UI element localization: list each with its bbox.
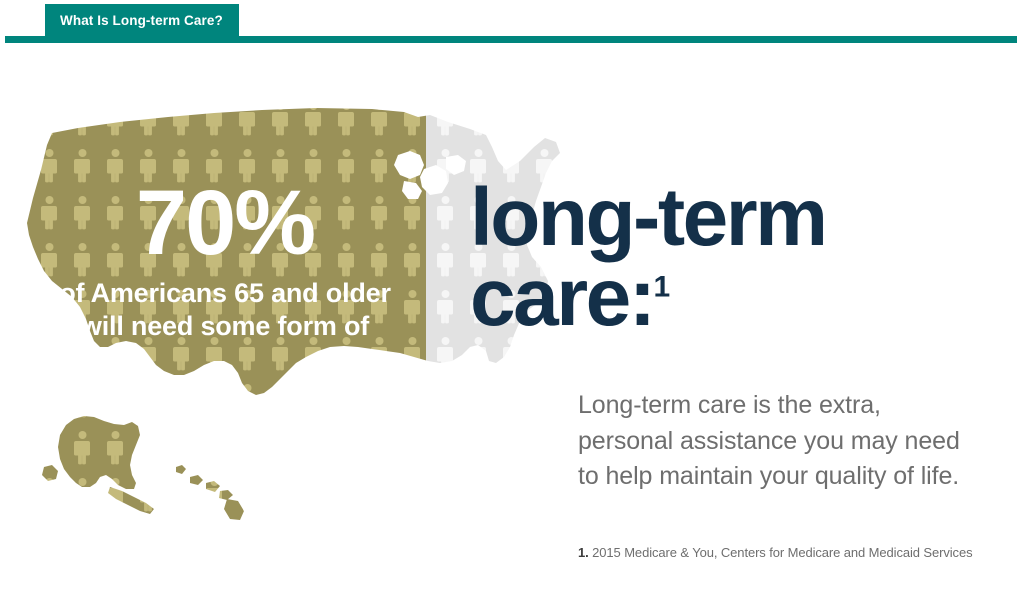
header: What Is Long-term Care?: [0, 0, 1024, 45]
infographic-canvas: What Is Long-term Care?: [0, 0, 1024, 595]
footnote-source: 2015 Medicare & You, Centers for Medicar…: [592, 545, 972, 560]
footnote-reference-superscript: 1: [654, 271, 671, 304]
section-tab-label: What Is Long-term Care?: [60, 13, 223, 28]
definition-paragraph: Long-term care is the extra, personal as…: [578, 388, 978, 495]
section-tab-what-is-long-term-care[interactable]: What Is Long-term Care?: [45, 4, 239, 36]
footnote-marker: 1.: [578, 545, 589, 560]
page-title: long-term care:1: [470, 178, 990, 339]
page-title-text: long-term care:: [470, 172, 826, 343]
header-divider-rule: [5, 36, 1017, 43]
footnote: 1. 2015 Medicare & You, Centers for Medi…: [578, 545, 1008, 562]
